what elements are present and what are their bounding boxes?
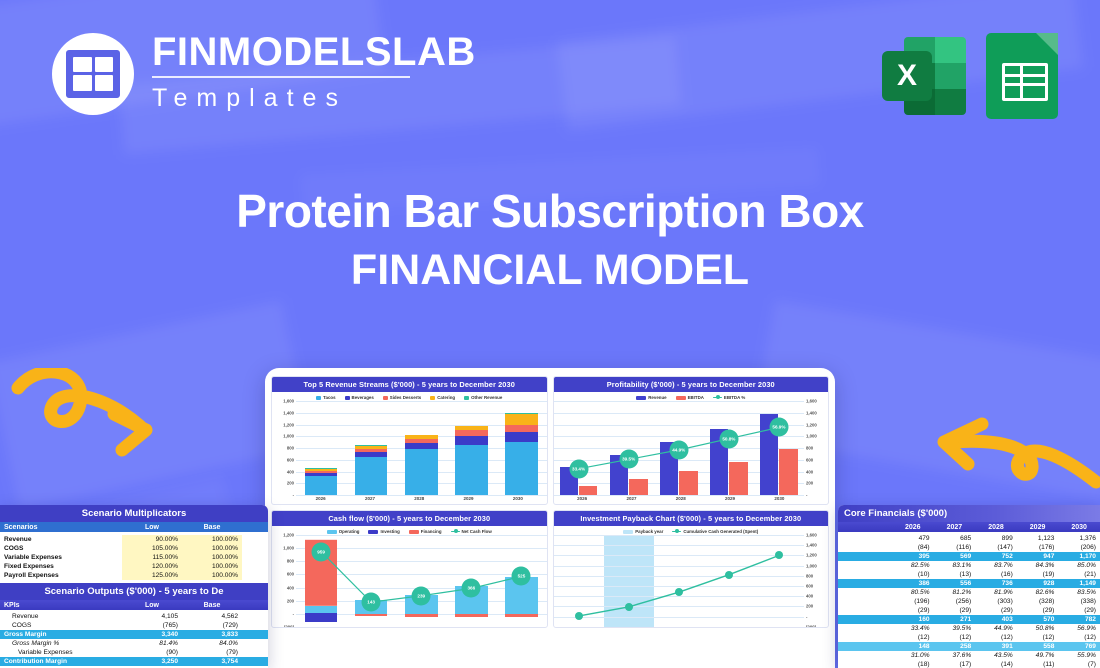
grid-squares-icon [66,50,120,98]
table-cell: 782 [1058,615,1100,624]
y-axis: 1,600 1,400 1,200 1,000 800 600 400 200 … [804,401,828,495]
table-row: Payroll Expenses125.00%100.00% [0,571,268,580]
table-cell: (11) [1017,660,1059,668]
table-cell: 85.0% [1058,561,1100,570]
table-cell: 479 [892,534,934,543]
data-point [675,588,683,596]
scenario-tables-panel[interactable]: Scenario Multiplicators Scenarios Low Ba… [0,505,268,668]
table-row: Revenue90.00%100.00% [0,535,268,544]
table-row: (18)(17)(14)(11)(7) [838,660,1100,668]
table-cell: 1,149 [1058,579,1100,588]
curved-arrow-right-icon [10,368,200,478]
table-cell: (328) [1017,597,1059,606]
bar-2027 [355,445,388,495]
table-cell: 33.4% [892,624,934,633]
table-header: 2026 2027 2028 2029 2030 [838,522,1100,532]
excel-x-glyph: X [882,51,932,101]
legend-label: Revenue [648,395,666,400]
legend-label: Other Revenue [471,395,502,400]
table-row: Revenue4,1054,562 [0,612,268,621]
table-cell: (12) [1058,633,1100,642]
table-cell: 84.3% [1017,561,1059,570]
table-cell: 736 [975,579,1017,588]
core-financials-panel[interactable]: Core Financials ($'000) 2026 2027 2028 2… [838,505,1100,668]
table-cell: (12) [934,633,976,642]
scenario-multiplicators-title: Scenario Multiplicators [0,505,268,522]
table-cell: 395 [892,552,934,561]
page-title: Protein Bar Subscription Box FINANCIAL M… [0,186,1100,295]
brand-logo: FINMODELSLAB Templates [52,32,476,116]
table-row: (12)(12)(12)(12)(12) [838,633,1100,642]
data-label-net-cash: 959 [312,542,331,561]
y-axis: 1,200 1,000 800 600 400 200 - (200) [272,535,296,627]
table-row: COGS(765)(729) [0,621,268,630]
chart-plot-area: 1,600 1,400 1,200 1,000 800 600 400 200 … [272,401,547,495]
table-cell: 31.0% [892,651,934,660]
file-format-icons: X [882,33,1058,119]
table-row: Gross Margin %81.4%84.0% [0,639,268,648]
title-line-1: Protein Bar Subscription Box [0,186,1100,238]
logo-mark [52,33,134,115]
data-label-ebitda-pct: 56.9% [769,418,788,437]
cumulative-cash-line [554,535,805,627]
table-cell: 685 [934,534,976,543]
title-line-2: FINANCIAL MODEL [0,246,1100,295]
panel-title: Top 5 Revenue Streams ($'000) - 5 years … [272,377,547,392]
table-row: 33.4%39.5%44.9%50.8%56.9% [838,624,1100,633]
table-cell: 81.9% [975,588,1017,597]
table-cell: 83.5% [1058,588,1100,597]
table-cell: (196) [892,597,934,606]
table-cell: (12) [1017,633,1059,642]
table-cell: 39.5% [934,624,976,633]
net-cash-flow-line [296,535,547,627]
table-row: 80.5%81.2%81.9%82.6%83.5% [838,588,1100,597]
table-row: 160271403570782 [838,615,1100,624]
table-cell: 558 [1017,642,1059,651]
legend-label: Catering [437,395,455,400]
table-cell: 1,376 [1058,534,1100,543]
table-cell: (7) [1058,660,1100,668]
table-cell: (16) [975,570,1017,579]
core-financials-title: Core Financials ($'000) [838,505,1100,522]
table-header: KPIs Low Base [0,600,268,610]
table-cell: 160 [892,615,934,624]
table-row: 148258391558769 [838,642,1100,651]
table-cell: 403 [975,615,1017,624]
panel-title: Profitability ($'000) - 5 years to Decem… [554,377,829,392]
table-header: Scenarios Low Base [0,522,268,532]
legend-label: Net Cash Flow [462,529,492,534]
x-axis: 2026 2027 2028 2029 2030 [296,495,543,504]
table-cell: (206) [1058,543,1100,552]
table-row: Contribution Margin3,2503,754 [0,657,268,666]
panel-title: Investment Payback Chart ($'000) - 5 yea… [554,511,829,526]
brand-name: FINMODELSLAB [152,32,476,72]
table-cell: 81.2% [934,588,976,597]
bar-2030 [505,413,538,495]
legend-label: Cumulative Cash Generated (Spent) [683,529,758,534]
table-cell: 55.9% [1058,651,1100,660]
table-row: Fixed Expenses120.00%100.00% [0,562,268,571]
table-cell: 148 [892,642,934,651]
table-cell: 570 [1017,615,1059,624]
legend-label: EBITDA % [724,395,745,400]
table-cell: (29) [1058,606,1100,615]
table-row: (29)(29)(29)(29)(29) [838,606,1100,615]
chart-plot-area: 33.4% 39.5% 44.9% 50.8% 56.9% 1,600 1,40… [554,401,829,495]
table-cell: 258 [934,642,976,651]
chart-legend: Operating Investing Financing Net Cash F… [272,526,547,535]
bar-2026 [305,468,338,495]
panel-investment-payback[interactable]: Investment Payback Chart ($'000) - 5 yea… [553,510,830,628]
table-cell: (13) [934,570,976,579]
table-row: 4796858991,1231,376 [838,534,1100,543]
y-axis: 1,600 1,400 1,200 1,000 800 600 400 200 … [272,401,296,495]
table-cell: (29) [934,606,976,615]
table-cell: 569 [934,552,976,561]
table-cell: (256) [934,597,976,606]
table-cell: (147) [975,543,1017,552]
table-cell: 391 [975,642,1017,651]
table-row: COGS105.00%100.00% [0,544,268,553]
table-row: (84)(116)(147)(176)(206) [838,543,1100,552]
table-cell: (338) [1058,597,1100,606]
table-cell: 556 [934,579,976,588]
table-row: Variable Expenses115.00%100.00% [0,553,268,562]
x-axis: 2026 2027 2028 2029 2030 [558,495,805,504]
google-sheets-icon [986,33,1058,119]
table-cell: 50.8% [1017,624,1059,633]
table-cell: (29) [892,606,934,615]
scenario-outputs-title: Scenario Outputs ($'000) - 5 years to De [0,583,268,600]
panel-revenue-streams[interactable]: Top 5 Revenue Streams ($'000) - 5 years … [271,376,548,505]
legend-label: Payback year [635,529,663,534]
table-row: 82.5%83.1%83.7%84.3%85.0% [838,561,1100,570]
legend-label: Beverages [352,395,374,400]
chart-legend: Payback year Cumulative Cash Generated (… [554,526,829,535]
data-label-ebitda-pct: 50.8% [719,429,738,448]
table-cell: (116) [934,543,976,552]
dashboard-preview[interactable]: Top 5 Revenue Streams ($'000) - 5 years … [265,368,835,668]
data-point [625,603,633,611]
chart-plot-area: 1,200 1,000 800 600 400 200 - (200) [272,535,547,627]
table-cell: 83.7% [975,561,1017,570]
table-cell: (29) [975,606,1017,615]
chart-legend: Revenue EBITDA EBITDA % [554,392,829,401]
table-cell: (303) [975,597,1017,606]
table-cell: 44.9% [975,624,1017,633]
brand-divider [152,76,410,78]
table-cell: 386 [892,579,934,588]
table-cell: 49.7% [1017,651,1059,660]
table-row: (196)(256)(303)(328)(338) [838,597,1100,606]
table-row: 3955697529471,170 [838,552,1100,561]
data-point [775,551,783,559]
data-label-net-cash: 143 [362,593,381,612]
table-cell: 83.1% [934,561,976,570]
table-cell: 928 [1017,579,1059,588]
table-cell: (10) [892,570,934,579]
bar-2029 [455,426,488,495]
table-cell: 82.6% [1017,588,1059,597]
table-cell: 56.9% [1058,624,1100,633]
legend-label: EBITDA [688,395,704,400]
data-label-net-cash: 239 [412,586,431,605]
table-cell: 80.5% [892,588,934,597]
excel-icon: X [882,33,968,119]
data-point [575,612,583,620]
chart-plot-area: 1,600 1,400 1,200 1,000 800 600 400 200 … [554,535,829,627]
table-cell: 769 [1058,642,1100,651]
table-cell: (19) [1017,570,1059,579]
legend-label: Tacos [323,395,335,400]
data-label-ebitda-pct: 44.9% [669,440,688,459]
table-cell: (84) [892,543,934,552]
panel-title: Cash flow ($'000) - 5 years to December … [272,511,547,526]
table-cell: (18) [892,660,934,668]
table-row: 3865567369281,149 [838,579,1100,588]
table-cell: (12) [892,633,934,642]
table-cell: (12) [975,633,1017,642]
data-label-net-cash: 525 [512,567,531,586]
table-cell: 82.5% [892,561,934,570]
table-cell: (176) [1017,543,1059,552]
brand-subtitle: Templates [152,82,476,116]
table-cell: 1,170 [1058,552,1100,561]
legend-label: Sides Desserts [390,395,422,400]
chart-legend: Tacos Beverages Sides Desserts Catering … [272,392,547,401]
table-row: Gross Margin3,3403,833 [0,630,268,639]
panel-cash-flow[interactable]: Cash flow ($'000) - 5 years to December … [271,510,548,628]
legend-label: Financing [421,529,442,534]
table-cell: (17) [934,660,976,668]
table-cell: 899 [975,534,1017,543]
table-cell: 947 [1017,552,1059,561]
data-label-ebitda-pct: 33.4% [569,459,588,478]
table-cell: 752 [975,552,1017,561]
y-axis: 1,600 1,400 1,200 1,000 800 600 400 200 … [804,535,828,627]
data-label-net-cash: 366 [462,579,481,598]
table-cell: 1,123 [1017,534,1059,543]
bar-2028 [405,435,438,495]
table-cell: 271 [934,615,976,624]
legend-label: Investing [380,529,399,534]
table-row: (10)(13)(16)(19)(21) [838,570,1100,579]
table-cell: (29) [1017,606,1059,615]
curved-arrow-left-icon [918,386,1100,496]
table-row: Variable Expenses(90)(79) [0,648,268,657]
data-point [725,571,733,579]
panel-profitability[interactable]: Profitability ($'000) - 5 years to Decem… [553,376,830,505]
table-cell: (14) [975,660,1017,668]
data-label-ebitda-pct: 39.5% [619,450,638,469]
table-row: 31.0%37.6%43.5%49.7%55.9% [838,651,1100,660]
table-cell: 37.6% [934,651,976,660]
table-cell: 43.5% [975,651,1017,660]
legend-label: Operating [339,529,360,534]
table-cell: (21) [1058,570,1100,579]
